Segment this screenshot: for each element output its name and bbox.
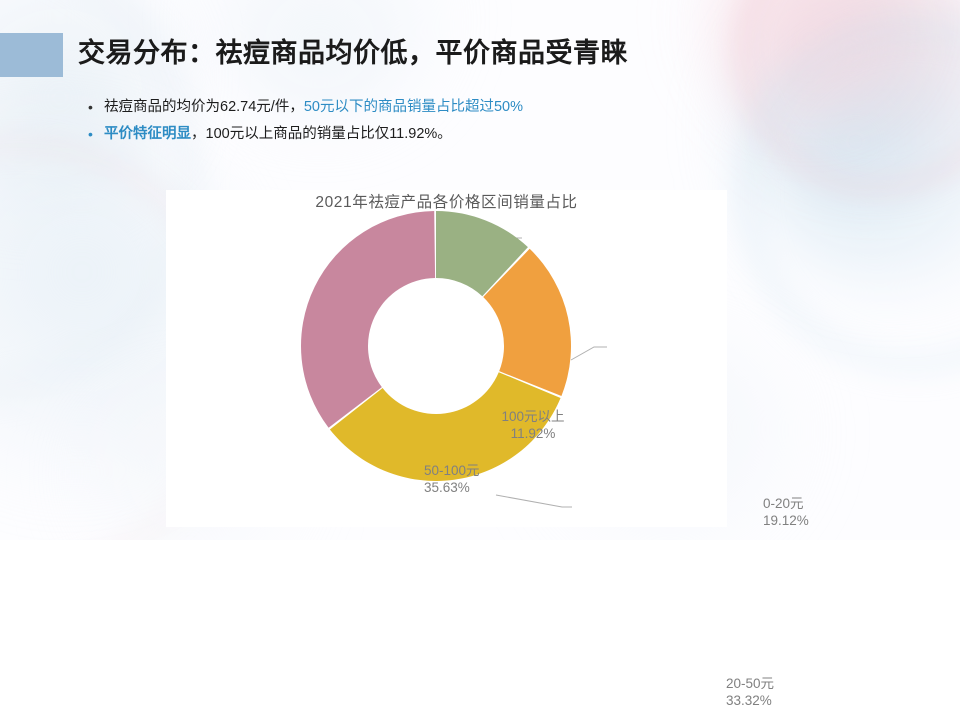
donut-slices bbox=[290, 200, 582, 492]
slice-label-0-20: 0-20元 19.12% bbox=[763, 495, 809, 529]
bullet-highlight-segment: 平价特征明显 bbox=[104, 126, 191, 142]
bullet-list: • 祛痘商品的均价为62.74元/件，50元以下的商品销量占比超过50% • 平… bbox=[88, 97, 523, 151]
slice-label-name: 0-20元 bbox=[763, 496, 804, 511]
donut-slice-50-100[interactable] bbox=[301, 211, 435, 428]
bullet-highlight-segment: 50元以下的商品销量占比超过50% bbox=[304, 99, 523, 115]
slice-label-20-50: 20-50元 33.32% bbox=[726, 675, 774, 709]
list-item: • 平价特征明显，100元以上商品的销量占比仅11.92%。 bbox=[88, 124, 523, 144]
chart-card: 2021年祛痘产品各价格区间销量占比 bbox=[166, 190, 727, 527]
slice-label-name: 100元以上 bbox=[501, 409, 564, 424]
bullet-text-segment: ，100元以上商品的销量占比仅11.92%。 bbox=[191, 126, 452, 142]
slice-label-name: 50-100元 bbox=[424, 463, 480, 478]
title-accent-block bbox=[0, 33, 63, 77]
page-title: 交易分布：祛痘商品均价低，平价商品受青睐 bbox=[78, 31, 628, 70]
slice-label-value: 35.63% bbox=[424, 479, 480, 496]
slice-label-50-100: 50-100元 35.63% bbox=[424, 462, 480, 496]
bullet-text-segment: 祛痘商品的均价为62.74元/件， bbox=[104, 99, 304, 115]
slice-label-value: 11.92% bbox=[478, 425, 588, 442]
bullet-marker-icon: • bbox=[88, 97, 104, 117]
leader-line-20-50 bbox=[496, 495, 572, 507]
slice-label-value: 33.32% bbox=[726, 692, 774, 709]
slice-label-name: 20-50元 bbox=[726, 676, 774, 691]
donut-chart: 100元以上 11.92% 0-20元 19.12% 20-50元 33.32%… bbox=[166, 190, 727, 527]
slice-label-value: 19.12% bbox=[763, 512, 809, 529]
bullet-text: 祛痘商品的均价为62.74元/件，50元以下的商品销量占比超过50% bbox=[104, 97, 523, 117]
slice-label-100plus: 100元以上 11.92% bbox=[478, 408, 588, 442]
bullet-text: 平价特征明显，100元以上商品的销量占比仅11.92%。 bbox=[104, 124, 452, 144]
list-item: • 祛痘商品的均价为62.74元/件，50元以下的商品销量占比超过50% bbox=[88, 97, 523, 117]
bullet-marker-icon: • bbox=[88, 124, 104, 144]
